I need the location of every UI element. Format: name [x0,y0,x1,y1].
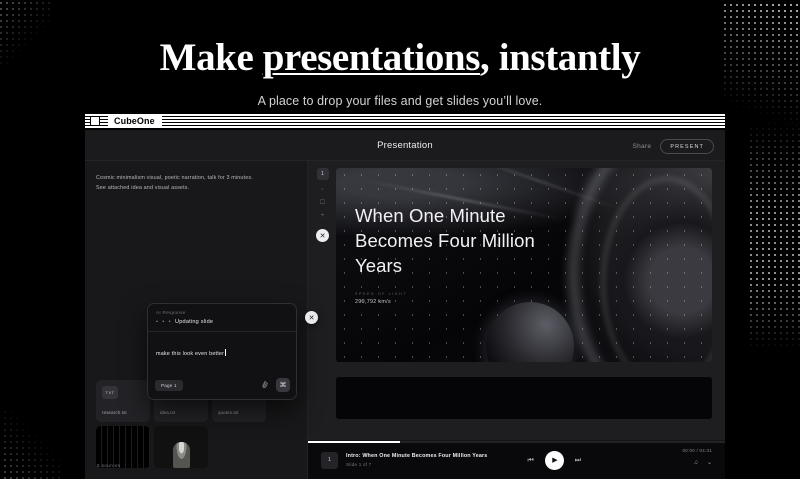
player-time: 00:00 / 04:31 [682,448,712,453]
window-title: CubeOne [108,115,162,128]
loading-dots-icon: • • • [156,319,172,325]
prompt-line-1: Cosmic minimalism visual, poetic narrati… [96,173,295,183]
paperclip-icon[interactable] [261,380,271,391]
ai-response-status: • • •Updating slide [156,319,288,325]
ai-popup-footer: Page 1 ⌘ [148,374,296,399]
halftone-dots-right [748,120,800,350]
hero-title-underlined: presentations [263,36,480,79]
player-bar: 1 Intro: When One Minute Becomes Four Mi… [308,440,725,479]
slide-thumbnail-1[interactable]: 1 [317,168,329,180]
ai-status-text: Updating slide [175,319,213,325]
figure-silhouette [173,442,190,468]
app-root: Presentation Share PRESENT Cosmic minima… [85,130,725,479]
app-body: Cosmic minimalism visual, poetic narrati… [85,161,725,479]
window-titlebar[interactable]: CubeOne [85,113,725,130]
statue-figure-image[interactable] [154,426,208,468]
slide-1[interactable]: When One Minute Becomes Four Million Yea… [336,168,712,362]
close-rail-button[interactable]: ✕ [316,229,329,242]
halftone-dots-bottom-left [0,409,60,479]
slide-2[interactable] [336,377,712,419]
striped-dark-image[interactable] [96,426,150,468]
file-card[interactable]: TXT research.txt [96,380,150,422]
sources-count: 5 sources [97,464,121,469]
next-slide-icon[interactable]: ⏭ [575,457,581,464]
page-root: Make presentations, instantly A place to… [0,0,800,479]
player-subtitle: Slide 1 of 7 [346,462,487,467]
player-slide-thumbnail[interactable]: 1 [321,452,338,469]
ai-input-value: make this look even better [156,351,224,357]
hero-title-pre: Make [160,36,263,79]
app-header: Presentation Share PRESENT [85,130,725,161]
share-button[interactable]: Share [632,143,651,150]
figure-graphic [154,426,208,468]
player-meta: Intro: When One Minute Becomes Four Mill… [346,453,487,467]
slide-metric: 299,792 km/s [355,299,535,305]
slide-title-line-2: Becomes Four Million [355,229,535,254]
header-actions: Share PRESENT [632,139,714,154]
player-options: ♫ ⌄ [682,460,712,466]
player-right: 00:00 / 04:31 ♫ ⌄ [682,448,712,466]
slide-title-line-1: When One Minute [355,204,535,229]
prompt-line-2: See attached idea and visual assets. [96,183,295,193]
lock-icon[interactable]: ☐ [320,200,325,206]
page-title: Make presentations, instantly [0,38,800,77]
file-name: quotes.txt [218,410,260,422]
volume-icon[interactable]: ♫ [693,460,698,466]
app-title: Presentation [377,140,433,151]
progress-fill [308,441,400,443]
grid-icon[interactable]: ▫ [321,187,323,193]
player-controls: ⏮ ▶ ⏭ [527,451,581,470]
chevron-down-icon[interactable]: ⌄ [707,460,712,466]
close-box-icon[interactable] [90,116,100,126]
slide-canvas: When One Minute Becomes Four Million Yea… [336,168,712,479]
hero-title-post: , instantly [480,36,640,79]
ai-prompt-input[interactable]: make this look even better [148,332,296,374]
slide-text-block: When One Minute Becomes Four Million Yea… [355,204,535,305]
hero-subtitle: A place to drop your files and get slide… [0,94,800,108]
send-button[interactable]: ⌘ [276,378,290,392]
page-chip[interactable]: Page 1 [155,380,183,391]
present-button[interactable]: PRESENT [660,139,714,154]
prompt-text: Cosmic minimalism visual, poetic narrati… [85,161,307,193]
slide-kicker: SPEED OF LIGHT [355,292,535,296]
previous-slide-icon[interactable]: ⏮ [527,457,533,464]
ai-response-label: AI Response [156,310,288,315]
ai-response-header: AI Response • • •Updating slide [148,304,296,332]
text-caret [225,349,226,356]
plus-icon[interactable]: + [321,213,325,219]
file-name: research.txt [102,410,144,422]
app-window: CubeOne Presentation Share PRESENT Cosmi… [85,113,725,479]
txt-file-icon: TXT [102,386,118,399]
stripe-pattern [96,426,150,468]
play-button[interactable]: ▶ [545,451,564,470]
right-panel: 1 ▫ ☐ + ✕ [308,161,725,479]
file-name: idea.txt [160,410,202,422]
hero-section: Make presentations, instantly A place to… [0,0,800,108]
left-panel: Cosmic minimalism visual, poetic narrati… [85,161,308,479]
image-thumbnail-list [96,426,208,468]
close-popup-button[interactable]: ✕ [305,311,318,324]
slide-title-line-3: Years [355,254,535,279]
player-title: Intro: When One Minute Becomes Four Mill… [346,453,487,459]
progress-track[interactable] [308,441,725,443]
ai-response-popup: AI Response • • •Updating slide make thi… [147,303,297,400]
slide-rail: 1 ▫ ☐ + ✕ [315,168,330,242]
